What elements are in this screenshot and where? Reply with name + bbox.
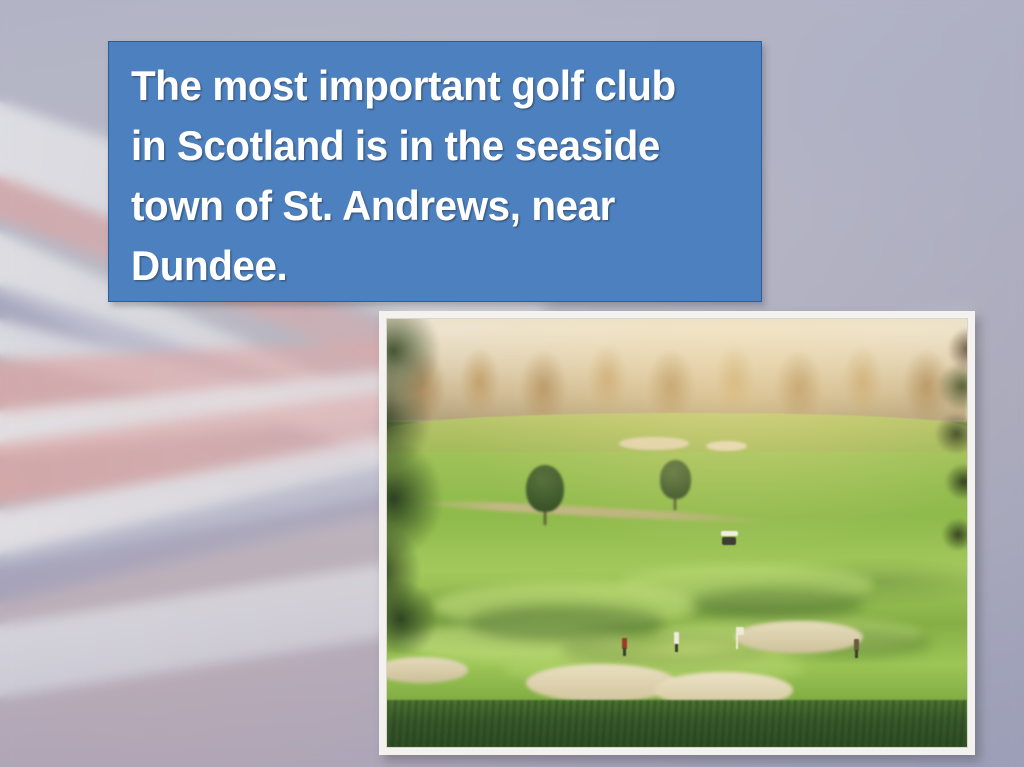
text-callout-box: The most important golf club in Scotland…	[108, 41, 762, 302]
golfer-torso	[674, 632, 679, 644]
photo-distant-bunker	[619, 437, 689, 451]
photo-fairway-tree	[660, 460, 692, 499]
photo-fairway-tree	[526, 465, 564, 512]
photo-sand-bunker	[735, 621, 863, 653]
photo-hollow	[689, 588, 863, 620]
photo-golfer	[854, 639, 859, 658]
photo-golfer	[622, 638, 627, 656]
golfer-torso	[854, 639, 859, 651]
golf-cart-roof	[721, 531, 738, 536]
golfer-legs	[623, 648, 626, 656]
golf-cart-body	[722, 537, 737, 545]
photo-sand-bunker	[526, 664, 677, 703]
photo-distant-bunker	[706, 441, 747, 451]
slide-canvas: The most important golf club in Scotland…	[0, 0, 1024, 767]
golf-course-photo-frame	[379, 311, 975, 755]
photo-left-tree	[386, 318, 515, 653]
golfer-legs	[855, 650, 858, 658]
photo-golfer	[674, 632, 679, 652]
photo-right-tree	[897, 328, 968, 593]
pin-flag-cloth	[738, 627, 744, 635]
photo-golf-cart	[721, 531, 738, 546]
golf-course-photo	[386, 318, 968, 748]
tree-trunk	[674, 498, 676, 510]
photo-foreground-rough	[387, 700, 967, 747]
golfer-legs	[675, 644, 678, 652]
photo-pin-flag	[736, 627, 738, 648]
tree-trunk	[544, 511, 547, 525]
callout-text: The most important golf club in Scotland…	[131, 56, 719, 296]
